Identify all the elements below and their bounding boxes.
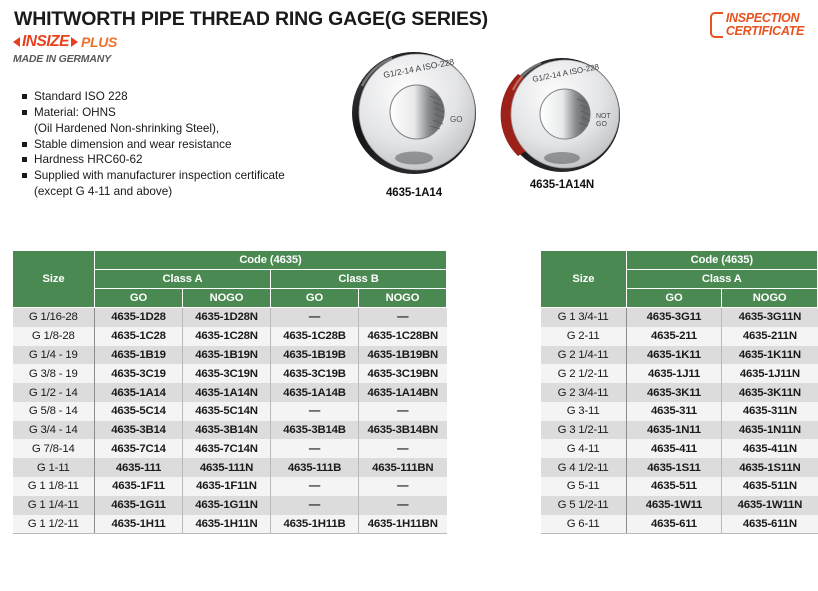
- bullet-icon: [22, 157, 27, 162]
- cell-size: G 2 1/4-11: [541, 346, 627, 365]
- table-row: G 3/8 - 194635-3C194635-3C19N4635-3C19B4…: [13, 364, 447, 383]
- cell-code: 4635-1W11: [626, 496, 722, 515]
- cell-code: 4635-3B14BN: [359, 421, 447, 440]
- column-header-size: Size: [541, 251, 627, 308]
- cell-size: G 1-11: [13, 458, 95, 477]
- bullet-icon: [22, 94, 27, 99]
- cell-code: 4635-1C28B: [271, 327, 359, 346]
- feature-item: Hardness HRC60-62: [22, 152, 285, 168]
- certificate-line-1: INSPECTION: [726, 12, 804, 25]
- cell-code: 4635-211N: [722, 327, 818, 346]
- made-in-germany-label: MADE IN GERMANY: [13, 53, 117, 65]
- cell-size: G 2 3/4-11: [541, 383, 627, 402]
- column-header-class-a: Class A: [95, 270, 271, 289]
- svg-text:NOT: NOT: [596, 113, 612, 120]
- cell-code-empty: —: [271, 308, 359, 327]
- cell-code: 4635-1K11N: [722, 346, 818, 365]
- feature-text: Material: OHNS: [34, 105, 116, 121]
- cell-code-empty: —: [359, 439, 447, 458]
- cell-code: 4635-1J11N: [722, 364, 818, 383]
- cell-code: 4635-1D28: [95, 308, 183, 327]
- certificate-line-2: CERTIFICATE: [726, 25, 804, 38]
- column-header-code: Code (4635): [626, 251, 817, 270]
- cell-code: 4635-111B: [271, 458, 359, 477]
- cell-code: 4635-1H11: [95, 515, 183, 534]
- bullet-icon: [22, 173, 27, 178]
- table-row: G 5/8 - 144635-5C144635-5C14N——: [13, 402, 447, 421]
- cell-code: 4635-3B14B: [271, 421, 359, 440]
- cell-code: 4635-1A14BN: [359, 383, 447, 402]
- cell-size: G 3-11: [541, 402, 627, 421]
- table-row: G 5 1/2-114635-1W114635-1W11N: [541, 496, 818, 515]
- cell-code: 4635-1H11N: [183, 515, 271, 534]
- size-code-table-right: Size Code (4635) Class A GO NOGO G 1 3/4…: [540, 250, 818, 534]
- cell-code: 4635-111N: [183, 458, 271, 477]
- table-body: G 1/16-284635-1D284635-1D28N——G 1/8-2846…: [13, 308, 447, 534]
- cell-size: G 1/2 - 14: [13, 383, 95, 402]
- table-row: G 1 1/4-114635-1G114635-1G11N——: [13, 496, 447, 515]
- feature-text: Hardness HRC60-62: [34, 152, 142, 168]
- cell-code-empty: —: [271, 496, 359, 515]
- cell-code: 4635-3C19: [95, 364, 183, 383]
- cell-code: 4635-3C19N: [183, 364, 271, 383]
- cell-code: 4635-3G11: [626, 308, 722, 327]
- column-header-class-a-nogo: NOGO: [183, 289, 271, 308]
- inspection-certificate-badge: INSPECTION CERTIFICATE: [710, 12, 804, 38]
- table-body: G 1 3/4-114635-3G114635-3G11NG 2-114635-…: [541, 308, 818, 534]
- cell-code-empty: —: [271, 477, 359, 496]
- cell-code: 4635-1F11: [95, 477, 183, 496]
- cell-code: 4635-1C28N: [183, 327, 271, 346]
- table-row: G 1 1/8-114635-1F114635-1F11N——: [13, 477, 447, 496]
- cell-size: G 4-11: [541, 439, 627, 458]
- cell-code: 4635-1D28N: [183, 308, 271, 327]
- cell-size: G 2-11: [541, 327, 627, 346]
- column-header-class-a: Class A: [626, 270, 817, 289]
- brand-block: INSIZE PLUS MADE IN GERMANY: [13, 33, 117, 65]
- feature-text: Standard ISO 228: [34, 89, 128, 105]
- cell-code: 4635-1B19BN: [359, 346, 447, 365]
- table-row: G 1/4 - 194635-1B194635-1B19N4635-1B19B4…: [13, 346, 447, 365]
- cell-size: G 1/4 - 19: [13, 346, 95, 365]
- cell-code: 4635-411: [626, 439, 722, 458]
- cell-code: 4635-211: [626, 327, 722, 346]
- feature-text: Stable dimension and wear resistance: [34, 137, 232, 153]
- cell-code-empty: —: [271, 402, 359, 421]
- cell-code-empty: —: [359, 477, 447, 496]
- cell-code: 4635-611: [626, 515, 722, 534]
- insize-plus-label: PLUS: [81, 34, 117, 50]
- cell-code: 4635-5C14: [95, 402, 183, 421]
- product-caption: 4635-1A14N: [500, 179, 624, 191]
- cell-code: 4635-511: [626, 477, 722, 496]
- cell-code: 4635-7C14N: [183, 439, 271, 458]
- table-row: G 3-114635-3114635-311N: [541, 402, 818, 421]
- cell-code: 4635-1N11N: [722, 421, 818, 440]
- table-row: G 1/2 - 144635-1A144635-1A14N4635-1A14B4…: [13, 383, 447, 402]
- table-row: G 2 3/4-114635-3K114635-3K11N: [541, 383, 818, 402]
- cell-size: G 3 1/2-11: [541, 421, 627, 440]
- cell-code: 4635-311N: [722, 402, 818, 421]
- column-header-class-a-go: GO: [95, 289, 183, 308]
- svg-text:GO: GO: [596, 121, 607, 128]
- size-code-table-left: Size Code (4635) Class A Class B GO NOGO…: [12, 250, 447, 534]
- page-title: WHITWORTH PIPE THREAD RING GAGE(G SERIES…: [14, 8, 488, 31]
- cell-code: 4635-3C19B: [271, 364, 359, 383]
- cell-size: G 1 3/4-11: [541, 308, 627, 327]
- cell-code: 4635-3G11N: [722, 308, 818, 327]
- cell-code: 4635-3K11N: [722, 383, 818, 402]
- table-row: G 4 1/2-114635-1S114635-1S11N: [541, 458, 818, 477]
- cell-size: G 1 1/8-11: [13, 477, 95, 496]
- cell-code: 4635-1A14N: [183, 383, 271, 402]
- cell-code: 4635-1S11: [626, 458, 722, 477]
- cell-code: 4635-1S11N: [722, 458, 818, 477]
- feature-item: Supplied with manufacturer inspection ce…: [22, 168, 285, 184]
- cell-size: G 7/8-14: [13, 439, 95, 458]
- cell-code: 4635-3C19BN: [359, 364, 447, 383]
- table-row: G 1/8-284635-1C284635-1C28N4635-1C28B463…: [13, 327, 447, 346]
- cell-code: 4635-1J11: [626, 364, 722, 383]
- table-row: G 7/8-144635-7C144635-7C14N——: [13, 439, 447, 458]
- feature-item: Material: OHNS: [22, 105, 285, 121]
- cell-code: 4635-1N11: [626, 421, 722, 440]
- cell-size: G 1 1/2-11: [13, 515, 95, 534]
- cell-code: 4635-7C14: [95, 439, 183, 458]
- cell-code: 4635-1C28BN: [359, 327, 447, 346]
- table-row: G 3 1/2-114635-1N114635-1N11N: [541, 421, 818, 440]
- product-notgo-gage: G1/2-14 A ISO-228 NOT GO 4635-1A14N: [500, 52, 624, 191]
- cell-size: G 4 1/2-11: [541, 458, 627, 477]
- table-row: G 1 1/2-114635-1H114635-1H11N4635-1H11B4…: [13, 515, 447, 534]
- cell-size: G 3/8 - 19: [13, 364, 95, 383]
- feature-item: Standard ISO 228: [22, 89, 285, 105]
- bracket-icon: [710, 12, 723, 38]
- table-row: G 1 3/4-114635-3G114635-3G11N: [541, 308, 818, 327]
- cell-code: 4635-111BN: [359, 458, 447, 477]
- product-caption: 4635-1A14: [348, 187, 480, 199]
- cell-code: 4635-1B19: [95, 346, 183, 365]
- cell-code: 4635-1H11B: [271, 515, 359, 534]
- size-code-table-left-wrapper: Size Code (4635) Class A Class B GO NOGO…: [12, 250, 447, 534]
- cell-code: 4635-311: [626, 402, 722, 421]
- cell-code: 4635-1C28: [95, 327, 183, 346]
- cell-code: 4635-411N: [722, 439, 818, 458]
- cell-code: 4635-111: [95, 458, 183, 477]
- cell-size: G 1 1/4-11: [13, 496, 95, 515]
- cell-code: 4635-3K11: [626, 383, 722, 402]
- catalog-page: WHITWORTH PIPE THREAD RING GAGE(G SERIES…: [0, 0, 818, 591]
- cell-code: 4635-1W11N: [722, 496, 818, 515]
- column-header-code: Code (4635): [95, 251, 447, 270]
- table-row: G 5-114635-5114635-511N: [541, 477, 818, 496]
- cell-code-empty: —: [271, 439, 359, 458]
- column-header-class-b-go: GO: [271, 289, 359, 308]
- cell-code: 4635-3B14: [95, 421, 183, 440]
- cell-code-empty: —: [359, 402, 447, 421]
- feature-subtext: (except G 4-11 and above): [34, 184, 285, 200]
- cell-size: G 6-11: [541, 515, 627, 534]
- cell-size: G 1/16-28: [13, 308, 95, 327]
- cell-code: 4635-1A14B: [271, 383, 359, 402]
- table-row: G 6-114635-6114635-611N: [541, 515, 818, 534]
- column-header-class-b: Class B: [271, 270, 447, 289]
- product-go-gage: G1/2-14 A ISO-228 GO 4635-1A14: [348, 46, 480, 199]
- cell-code: 4635-611N: [722, 515, 818, 534]
- cell-code: 4635-1H11BN: [359, 515, 447, 534]
- table-row: G 2-114635-2114635-211N: [541, 327, 818, 346]
- cell-code: 4635-1A14: [95, 383, 183, 402]
- table-head: Size Code (4635) Class A Class B GO NOGO…: [13, 251, 447, 308]
- cell-size: G 5/8 - 14: [13, 402, 95, 421]
- cell-code-empty: —: [359, 308, 447, 327]
- column-header-class-a-nogo: NOGO: [722, 289, 818, 308]
- bullet-icon: [22, 142, 27, 147]
- feature-item: Stable dimension and wear resistance: [22, 137, 285, 153]
- cell-size: G 5 1/2-11: [541, 496, 627, 515]
- cell-code: 4635-1B19N: [183, 346, 271, 365]
- table-row: G 3/4 - 144635-3B144635-3B14N4635-3B14B4…: [13, 421, 447, 440]
- cell-code: 4635-1F11N: [183, 477, 271, 496]
- size-code-table-right-wrapper: Size Code (4635) Class A GO NOGO G 1 3/4…: [540, 250, 818, 534]
- column-header-size: Size: [13, 251, 95, 308]
- cell-code: 4635-511N: [722, 477, 818, 496]
- table-row: G 1-114635-1114635-111N4635-111B4635-111…: [13, 458, 447, 477]
- table-row: G 2 1/2-114635-1J114635-1J11N: [541, 364, 818, 383]
- cell-code: 4635-1B19B: [271, 346, 359, 365]
- table-row: G 4-114635-4114635-411N: [541, 439, 818, 458]
- column-header-class-b-nogo: NOGO: [359, 289, 447, 308]
- feature-text: Supplied with manufacturer inspection ce…: [34, 168, 285, 184]
- table-head: Size Code (4635) Class A GO NOGO: [541, 251, 818, 308]
- ring-gage-notgo-illustration: G1/2-14 A ISO-228 NOT GO: [500, 52, 624, 176]
- cell-code: 4635-1G11N: [183, 496, 271, 515]
- cell-size: G 5-11: [541, 477, 627, 496]
- bullet-icon: [22, 110, 27, 115]
- svg-text:GO: GO: [450, 115, 462, 124]
- cell-code-empty: —: [359, 496, 447, 515]
- feature-list: Standard ISO 228 Material: OHNS (Oil Har…: [22, 89, 285, 200]
- ring-gage-go-illustration: G1/2-14 A ISO-228 GO: [348, 46, 480, 178]
- cell-size: G 1/8-28: [13, 327, 95, 346]
- cell-code: 4635-1G11: [95, 496, 183, 515]
- cell-code: 4635-3B14N: [183, 421, 271, 440]
- table-row: G 1/16-284635-1D284635-1D28N——: [13, 308, 447, 327]
- insize-logo: INSIZE: [13, 33, 78, 51]
- cell-size: G 2 1/2-11: [541, 364, 627, 383]
- table-row: G 2 1/4-114635-1K114635-1K11N: [541, 346, 818, 365]
- cell-size: G 3/4 - 14: [13, 421, 95, 440]
- feature-subtext: (Oil Hardened Non-shrinking Steel),: [34, 121, 285, 137]
- column-header-class-a-go: GO: [626, 289, 722, 308]
- cell-code: 4635-1K11: [626, 346, 722, 365]
- cell-code: 4635-5C14N: [183, 402, 271, 421]
